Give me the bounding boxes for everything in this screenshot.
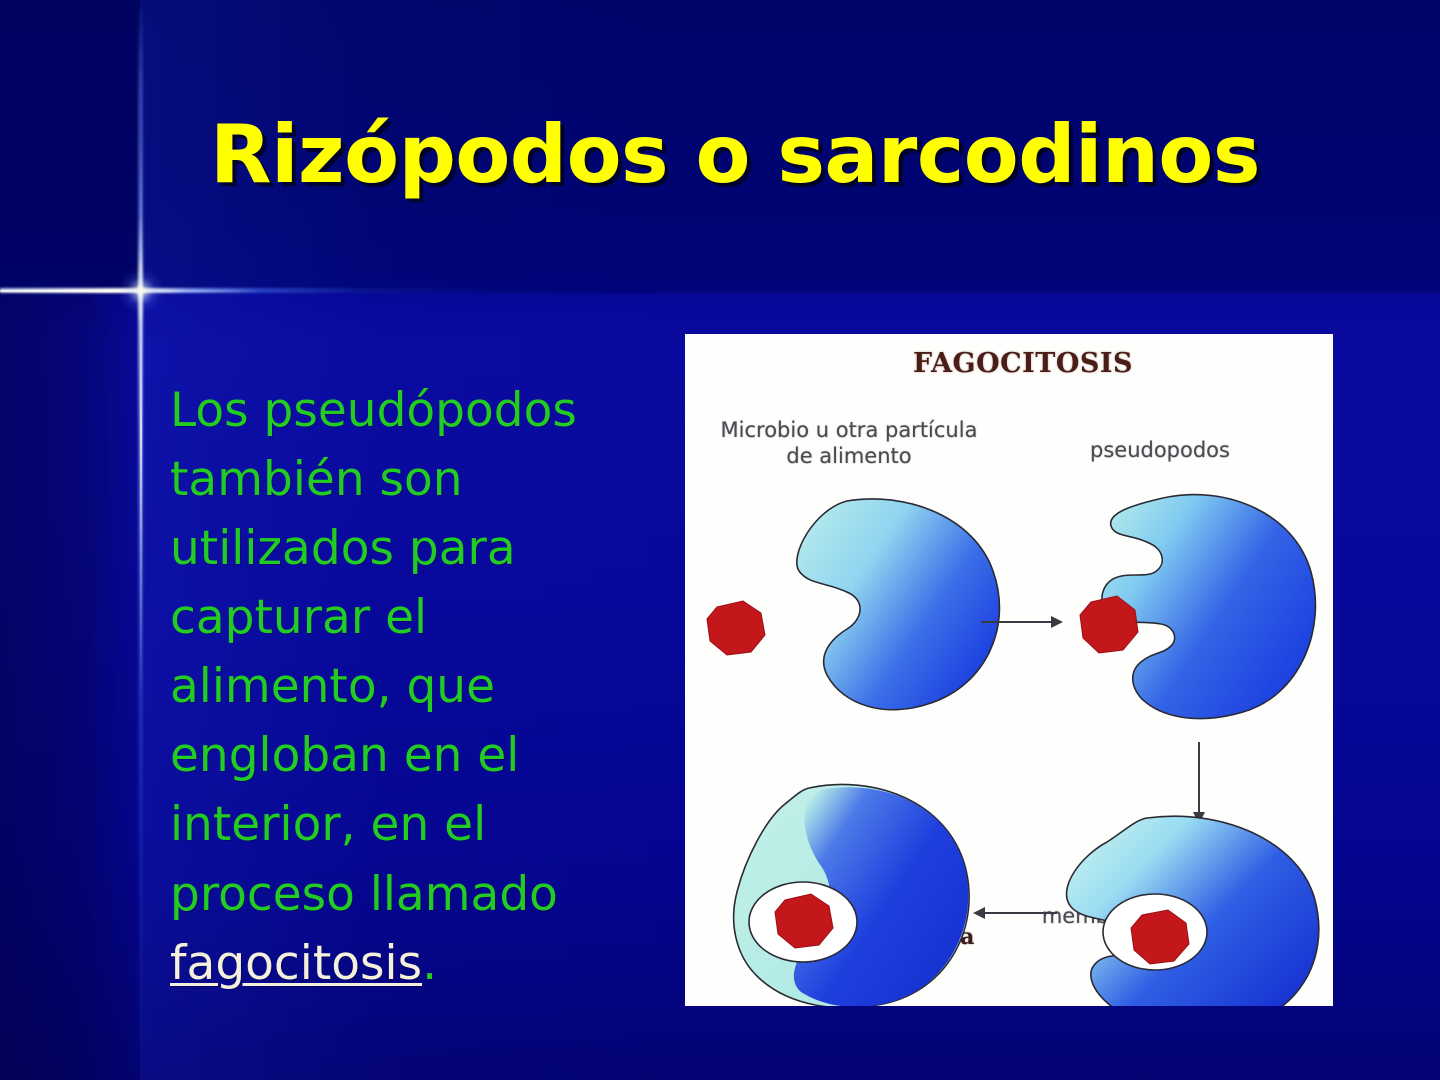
slide-title: Rizópodos o sarcodinos bbox=[140, 108, 1330, 201]
diagram-stage-1-particle bbox=[703, 597, 769, 659]
diagram-arrow-2-line bbox=[1198, 742, 1200, 814]
diagram-stage-3-particle bbox=[1127, 906, 1193, 968]
diagram-title: FAGOCITOSIS bbox=[685, 348, 1333, 379]
decorative-vertical-glow bbox=[140, 140, 142, 700]
slide-body-text: Los pseudópodos también son utilizados p… bbox=[170, 376, 622, 998]
diagram-label-microbio: Microbio u otra partícula de alimento bbox=[699, 418, 999, 469]
diagram-arrow-3-line bbox=[985, 912, 1057, 914]
phagocytosis-diagram-image: FAGOCITOSIS Microbio u otra partícula de… bbox=[685, 334, 1333, 1006]
slide-background-top-left bbox=[0, 0, 140, 292]
diagram-stage-2-particle bbox=[1075, 592, 1143, 658]
diagram-label-pseudopodos: pseudopodos bbox=[1025, 438, 1295, 464]
diagram-stage-1-cell bbox=[735, 489, 1035, 719]
diagram-arrow-1-head bbox=[1051, 616, 1063, 628]
body-keyword-fagocitosis: fagocitosis bbox=[170, 936, 422, 991]
body-lead-text: Los pseudópodos también son utilizados p… bbox=[170, 383, 577, 922]
diagram-arrow-1-line bbox=[981, 621, 1053, 623]
diagram-stage-4-cell bbox=[725, 774, 985, 1006]
diagram-stage-4-particle bbox=[771, 890, 837, 952]
decorative-star-burst-icon bbox=[118, 268, 164, 314]
body-trailing-text: . bbox=[422, 936, 437, 991]
presentation-slide: Rizópodos o sarcodinos Los pseudópodos t… bbox=[0, 0, 1440, 1080]
